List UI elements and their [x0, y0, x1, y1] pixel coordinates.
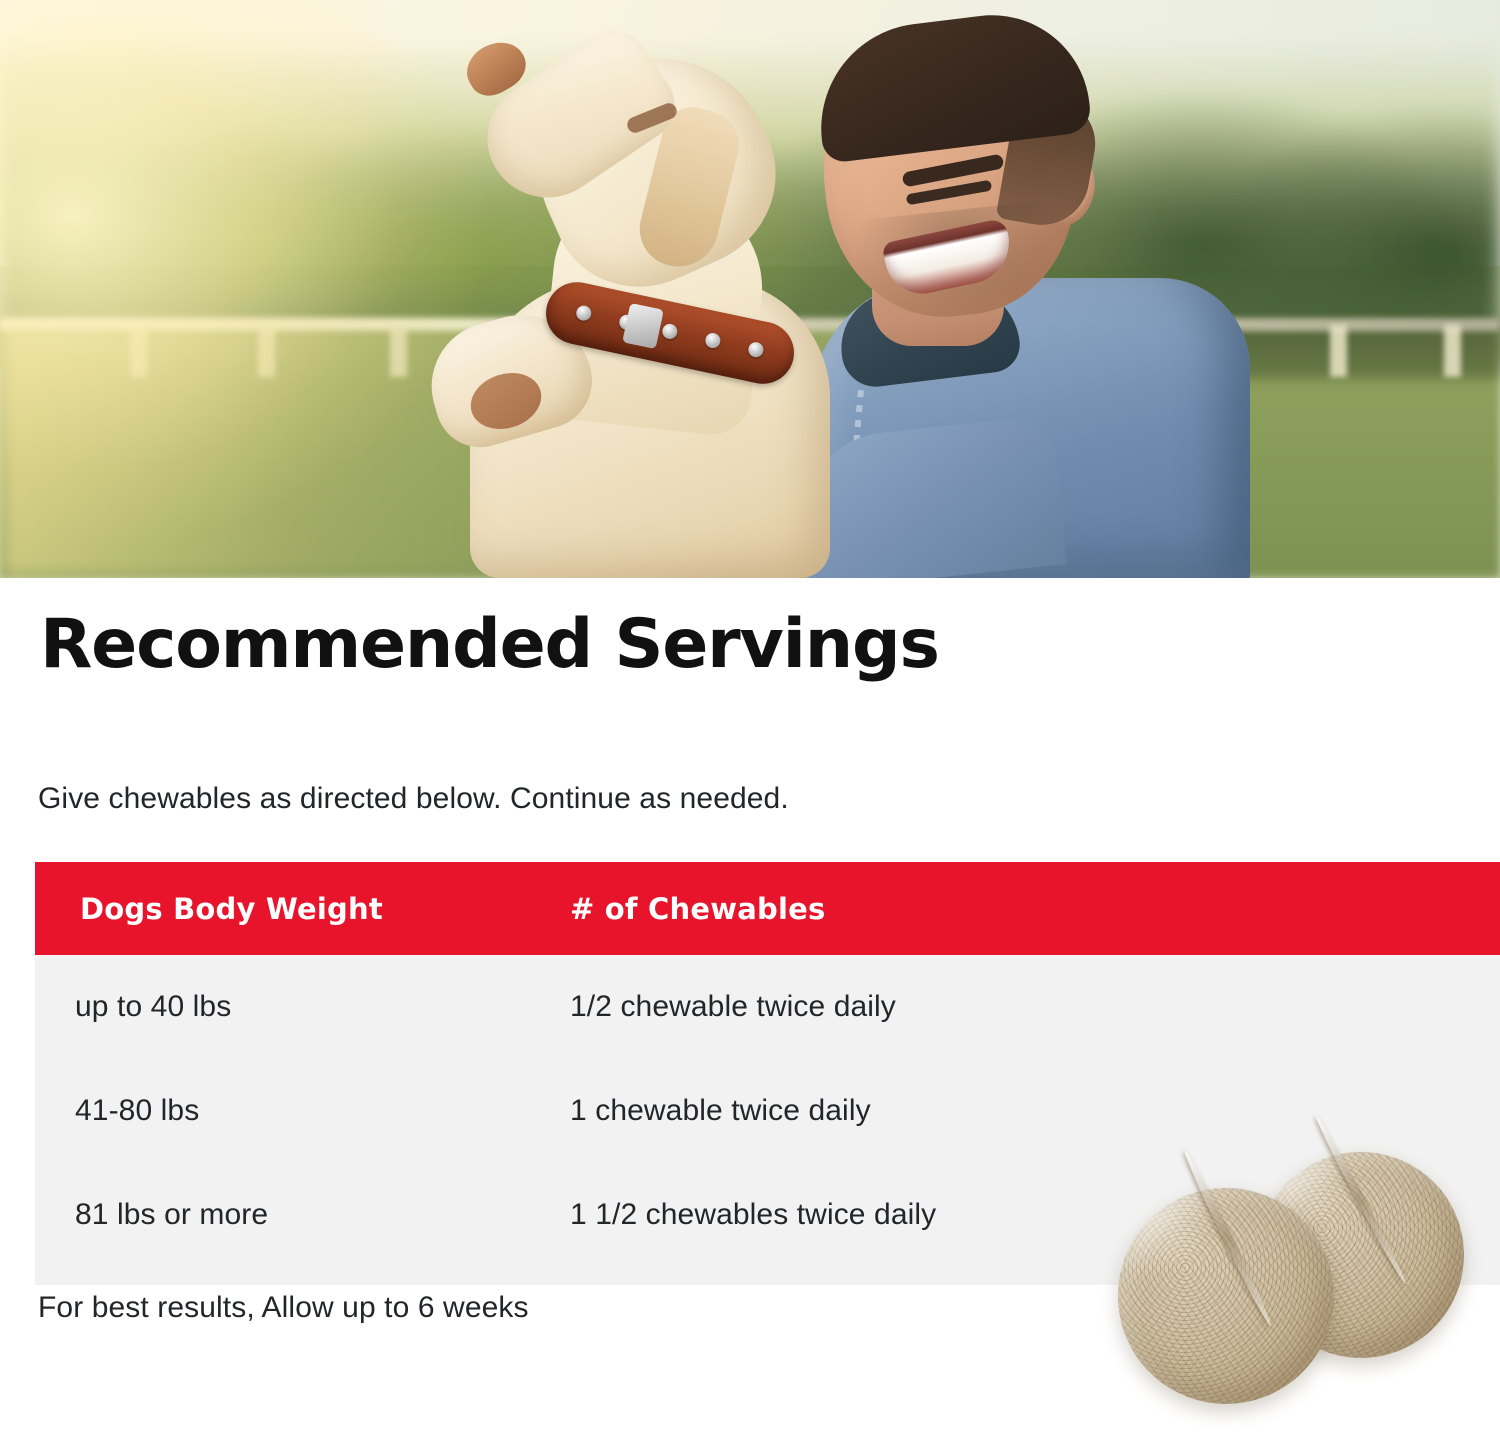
table-header-row: Dogs Body Weight # of Chewables	[35, 862, 1500, 955]
dog-figure	[430, 18, 950, 578]
collar-stud	[747, 341, 765, 359]
cell-weight: 41-80 lbs	[35, 1094, 555, 1128]
page-title: Recommended Servings	[40, 610, 939, 679]
intro-text: Give chewables as directed below. Contin…	[38, 782, 789, 816]
cell-dose: 1/2 chewable twice daily	[555, 990, 1500, 1024]
hero-image	[0, 0, 1500, 578]
table-row: up to 40 lbs 1/2 chewable twice daily	[35, 955, 1500, 1059]
chewable-tablets-image	[1090, 1130, 1500, 1441]
tablet-front	[1118, 1188, 1334, 1404]
fence-post	[1444, 325, 1461, 377]
column-header-weight: Dogs Body Weight	[35, 892, 555, 926]
cell-dose: 1 chewable twice daily	[555, 1094, 1500, 1128]
fence-post	[1330, 325, 1347, 377]
cell-weight: up to 40 lbs	[35, 990, 555, 1024]
footer-note: For best results, Allow up to 6 weeks	[38, 1291, 529, 1325]
cell-weight: 81 lbs or more	[35, 1198, 555, 1232]
collar-stud	[704, 332, 722, 350]
collar-stud	[575, 304, 593, 322]
collar-stud	[661, 323, 679, 341]
column-header-chewables: # of Chewables	[555, 892, 1500, 926]
